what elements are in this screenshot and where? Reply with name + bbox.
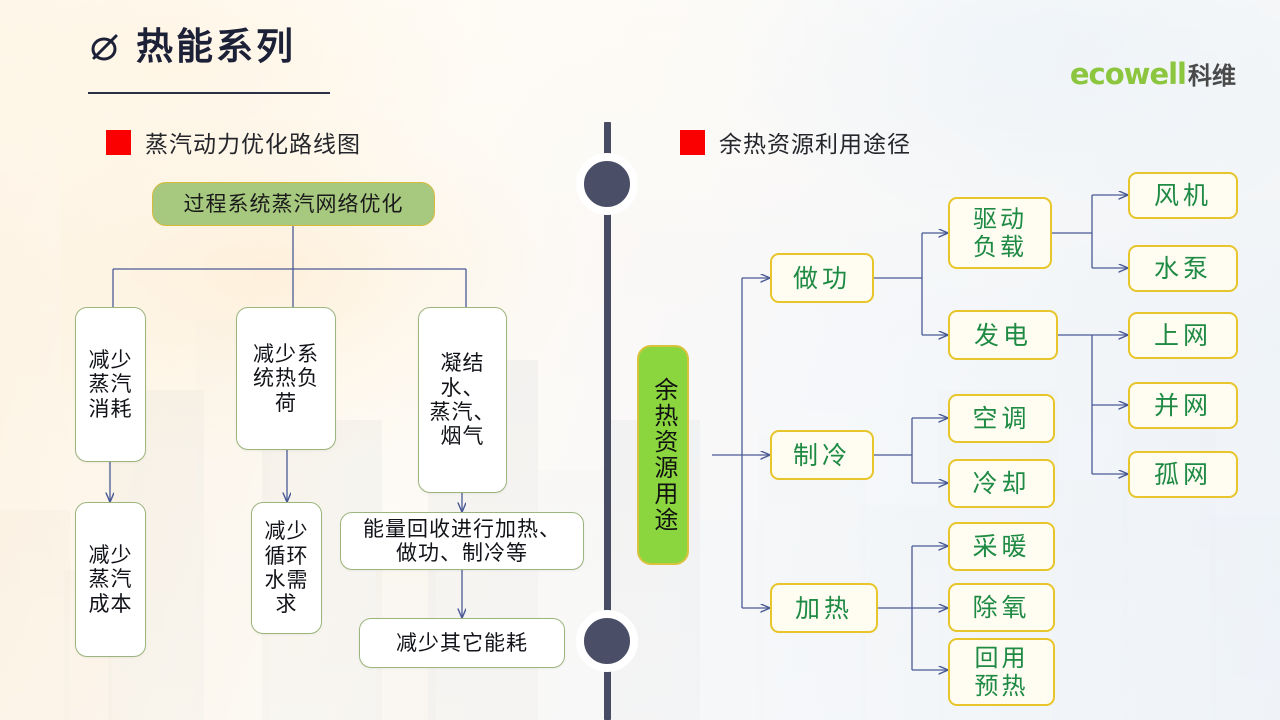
axis-marker-bottom (576, 610, 638, 672)
node-deaeration[interactable]: 除氧 (948, 583, 1055, 632)
node-process-steam-network-optimization[interactable]: 过程系统蒸汽网络优化 (152, 182, 435, 226)
red-square-bullet-icon (106, 130, 131, 155)
node-label: 除氧 (972, 593, 1030, 622)
node-energy-recovery[interactable]: 能量回收进行加热、做功、制冷等 (340, 512, 584, 570)
logo-wordmark-cn: 科维 (1188, 64, 1236, 88)
page-title-row: 热能系列 (88, 28, 296, 65)
node-condensate-steam-fluegas[interactable]: 凝结水、蒸汽、烟气 (418, 307, 507, 493)
node-reduce-other-energy-consumption[interactable]: 减少其它能耗 (359, 618, 565, 668)
node-label: 余热资源用途 (649, 377, 677, 533)
node-cooling[interactable]: 冷却 (948, 459, 1055, 508)
node-label: 驱动负载 (973, 205, 1027, 262)
node-label: 减少系统热负荷 (253, 342, 319, 415)
node-label: 加热 (795, 594, 853, 623)
node-label: 减少蒸汽成本 (89, 543, 133, 616)
node-label: 空调 (972, 404, 1030, 433)
node-water-pump[interactable]: 水泵 (1128, 245, 1238, 292)
section-heading-right-label: 余热资源利用途径 (719, 125, 911, 159)
section-heading-left: 蒸汽动力优化路线图 (106, 125, 361, 159)
node-refrigeration[interactable]: 制冷 (770, 430, 874, 480)
node-label: 冷却 (972, 469, 1030, 498)
node-label: 并网 (1154, 391, 1212, 420)
node-reuse-preheat[interactable]: 回用预热 (948, 638, 1055, 706)
section-heading-left-label: 蒸汽动力优化路线图 (145, 125, 361, 159)
node-label: 采暖 (972, 532, 1030, 561)
node-heating[interactable]: 加热 (770, 583, 878, 633)
node-label: 上网 (1154, 321, 1212, 350)
node-air-conditioning[interactable]: 空调 (948, 394, 1055, 443)
node-waste-heat-resource-uses[interactable]: 余热资源用途 (637, 345, 689, 565)
node-islanded-grid[interactable]: 孤网 (1128, 451, 1238, 498)
node-label: 水泵 (1154, 254, 1212, 283)
node-label: 风机 (1154, 181, 1212, 210)
node-grid-connected[interactable]: 并网 (1128, 382, 1238, 429)
slide-canvas: 热能系列 ecowell 科维 蒸汽动力优化路线图 余热资源利用途径 (0, 0, 1280, 720)
logo-wordmark: ecowell (1070, 60, 1186, 89)
section-heading-right: 余热资源利用途径 (680, 125, 911, 159)
page-title: 热能系列 (136, 28, 296, 65)
node-reduce-cooling-water-demand[interactable]: 减少循环水需求 (251, 502, 322, 634)
title-underline (88, 92, 330, 94)
node-reduce-steam-use[interactable]: 减少蒸汽消耗 (75, 307, 146, 462)
node-grid-feed-in[interactable]: 上网 (1128, 312, 1238, 359)
node-label: 凝结水、蒸汽、烟气 (430, 351, 496, 448)
axis-marker-top (576, 153, 638, 215)
node-label: 制冷 (793, 441, 851, 470)
ecowell-logo: ecowell 科维 (1070, 60, 1236, 89)
node-label: 做功 (793, 264, 851, 293)
node-label: 回用预热 (975, 644, 1029, 701)
node-space-heating[interactable]: 采暖 (948, 522, 1055, 571)
node-reduce-steam-cost[interactable]: 减少蒸汽成本 (75, 502, 146, 657)
red-square-bullet-icon (680, 130, 705, 155)
node-drive-load[interactable]: 驱动负载 (948, 197, 1052, 269)
node-label: 减少蒸汽消耗 (89, 348, 133, 421)
node-label: 减少其它能耗 (396, 631, 528, 655)
node-label: 发电 (974, 321, 1032, 350)
node-label: 能量回收进行加热、做功、制冷等 (363, 517, 561, 566)
node-power-generation[interactable]: 发电 (948, 310, 1058, 360)
node-reduce-system-heat-load[interactable]: 减少系统热负荷 (236, 307, 336, 450)
node-fan[interactable]: 风机 (1128, 172, 1238, 219)
slashed-circle-icon (88, 30, 122, 64)
node-label: 减少循环水需求 (265, 519, 309, 616)
node-label: 孤网 (1154, 460, 1212, 489)
node-do-work[interactable]: 做功 (770, 253, 874, 303)
node-label: 过程系统蒸汽网络优化 (184, 192, 404, 216)
